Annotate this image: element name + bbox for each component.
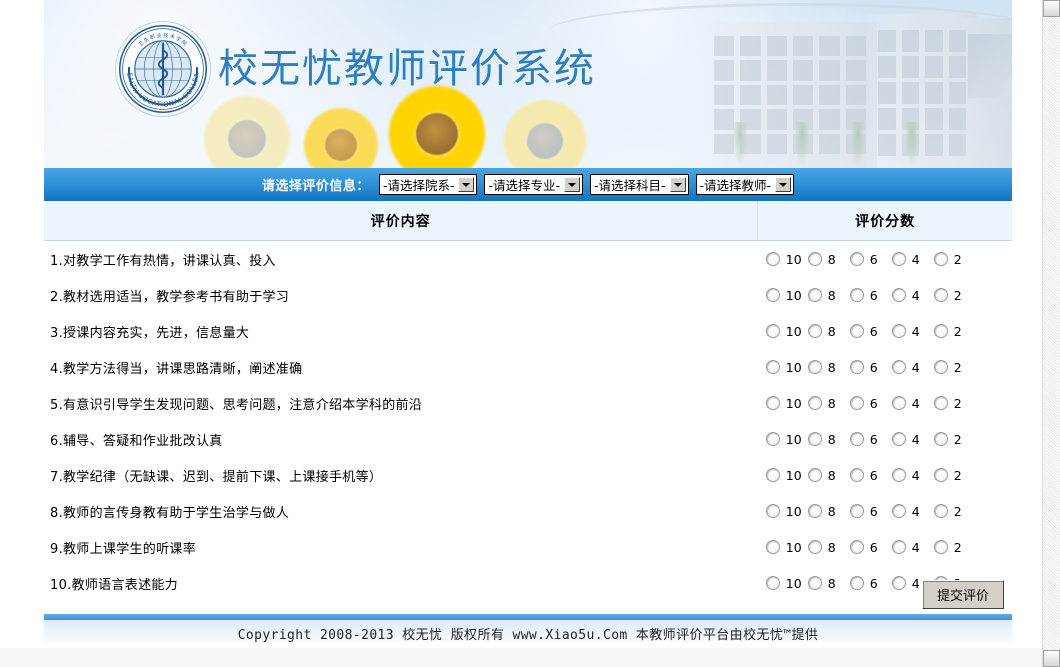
score-label: 4 <box>912 360 920 375</box>
question-score-cell: 108642 <box>758 493 1012 529</box>
radio-button[interactable] <box>850 324 864 338</box>
table-row: 7.教学纪律（无缺课、迟到、提前下课、上课接手机等）108642 <box>44 457 1012 493</box>
radio-button[interactable] <box>850 252 864 266</box>
score-label: 6 <box>870 324 878 339</box>
score-label: 2 <box>954 360 962 375</box>
radio-button[interactable] <box>934 324 948 338</box>
chevron-down-icon[interactable] <box>458 177 474 192</box>
question-score-cell: 108642 <box>758 421 1012 457</box>
score-option-4[interactable]: 4 <box>892 396 934 411</box>
score-label: 8 <box>828 324 836 339</box>
select-teacher-value: -请选择教师- <box>700 175 772 194</box>
radio-button[interactable] <box>766 468 780 482</box>
question-text: 8.教师的言传身教有助于学生治学与做人 <box>44 493 758 529</box>
scroll-down-button[interactable] <box>1043 650 1060 667</box>
evaluation-filter-bar: 请选择评价信息： -请选择院系- -请选择专业- -请选择科目- -请选择教师- <box>44 168 1012 201</box>
radio-button[interactable] <box>934 288 948 302</box>
left-gutter <box>0 0 44 648</box>
radio-button[interactable] <box>808 360 822 374</box>
question-text: 1.对教学工作有热情，讲课认真、投入 <box>44 241 758 278</box>
score-label: 10 <box>786 396 802 411</box>
question-text: 7.教学纪律（无缺课、迟到、提前下课、上课接手机等） <box>44 457 758 493</box>
score-option-8[interactable]: 8 <box>808 468 850 483</box>
page-canvas: HEALTH VOCATIONAL COLLEAG 卫生职业技术学院 校无忧教师… <box>0 0 1042 667</box>
score-option-8[interactable]: 8 <box>808 288 850 303</box>
score-option-6[interactable]: 6 <box>850 396 892 411</box>
header-content: 评价内容 <box>44 202 758 241</box>
score-option-10[interactable]: 10 <box>766 324 808 339</box>
filter-bar-label: 请选择评价信息： <box>262 175 370 194</box>
score-option-10[interactable]: 10 <box>766 468 808 483</box>
score-option-4[interactable]: 4 <box>892 504 934 519</box>
table-row: 4.教学方法得当，讲课思路清晰，阐述准确108642 <box>44 349 1012 385</box>
score-radio-group: 108642 <box>766 540 1011 555</box>
table-row: 5.有意识引导学生发现问题、思考问题，注意介绍本学科的前沿108642 <box>44 385 1012 421</box>
campus-building-photo <box>582 0 1012 168</box>
radio-button[interactable] <box>766 504 780 518</box>
radio-button[interactable] <box>766 324 780 338</box>
vertical-scrollbar[interactable] <box>1042 0 1060 667</box>
radio-button[interactable] <box>808 288 822 302</box>
score-option-8[interactable]: 8 <box>808 540 850 555</box>
score-option-10[interactable]: 10 <box>766 396 808 411</box>
header-score: 评价分数 <box>758 202 1012 241</box>
score-option-2[interactable]: 2 <box>934 288 976 303</box>
evaluation-table-wrapper: 评价内容 评价分数 1.对教学工作有热情，讲课认真、投入1086422.教材选用… <box>44 201 1012 601</box>
score-option-10[interactable]: 10 <box>766 540 808 555</box>
score-label: 2 <box>954 288 962 303</box>
table-row: 6.辅导、答疑和作业批改认真108642 <box>44 421 1012 457</box>
score-label: 6 <box>870 540 878 555</box>
radio-button[interactable] <box>934 432 948 446</box>
score-label: 10 <box>786 468 802 483</box>
score-label: 6 <box>870 252 878 267</box>
table-row: 2.教材选用适当，教学参考书有助于学习108642 <box>44 277 1012 313</box>
score-option-10[interactable]: 10 <box>766 360 808 375</box>
score-label: 2 <box>954 504 962 519</box>
score-radio-group: 108642 <box>766 468 1011 483</box>
radio-button[interactable] <box>808 468 822 482</box>
score-option-2[interactable]: 2 <box>934 540 976 555</box>
score-label: 8 <box>828 360 836 375</box>
question-text: 3.授课内容充实，先进，信息量大 <box>44 313 758 349</box>
score-label: 8 <box>828 468 836 483</box>
submit-evaluation-button[interactable]: 提交评价 <box>922 580 1004 609</box>
score-option-6[interactable]: 6 <box>850 504 892 519</box>
question-score-cell: 108642 <box>758 529 1012 565</box>
radio-button[interactable] <box>892 540 906 554</box>
radio-button[interactable] <box>892 324 906 338</box>
radio-button[interactable] <box>934 396 948 410</box>
score-label: 10 <box>786 540 802 555</box>
question-text: 5.有意识引导学生发现问题、思考问题，注意介绍本学科的前沿 <box>44 385 758 421</box>
score-option-2[interactable]: 2 <box>934 504 976 519</box>
score-option-2[interactable]: 2 <box>934 432 976 447</box>
radio-button[interactable] <box>850 396 864 410</box>
score-label: 4 <box>912 288 920 303</box>
viewport-bottom-fill <box>0 648 1042 667</box>
select-major-value: -请选择专业- <box>488 175 560 194</box>
score-label: 4 <box>912 504 920 519</box>
score-label: 4 <box>912 540 920 555</box>
site-title: 校无忧教师评价系统 <box>218 49 596 89</box>
radio-button[interactable] <box>808 432 822 446</box>
radio-button[interactable] <box>766 252 780 266</box>
score-label: 2 <box>954 468 962 483</box>
radio-button[interactable] <box>808 396 822 410</box>
radio-button[interactable] <box>808 324 822 338</box>
right-gutter <box>1012 0 1042 648</box>
question-text: 4.教学方法得当，讲课思路清晰，阐述准确 <box>44 349 758 385</box>
score-option-10[interactable]: 10 <box>766 504 808 519</box>
radio-button[interactable] <box>808 504 822 518</box>
score-label: 4 <box>912 432 920 447</box>
radio-button[interactable] <box>766 360 780 374</box>
score-option-2[interactable]: 2 <box>934 468 976 483</box>
radio-button[interactable] <box>850 288 864 302</box>
score-radio-group: 108642 <box>766 288 1011 303</box>
submit-row: 提交评价 <box>44 580 1012 609</box>
question-score-cell: 108642 <box>758 241 1012 278</box>
college-emblem-icon: HEALTH VOCATIONAL COLLEAG 卫生职业技术学院 <box>116 22 210 116</box>
score-option-4[interactable]: 4 <box>892 324 934 339</box>
score-radio-group: 108642 <box>766 396 1011 411</box>
score-option-6[interactable]: 6 <box>850 360 892 375</box>
score-label: 8 <box>828 288 836 303</box>
site-banner: HEALTH VOCATIONAL COLLEAG 卫生职业技术学院 校无忧教师… <box>44 0 1012 168</box>
score-option-6[interactable]: 6 <box>850 324 892 339</box>
evaluation-rows: 1.对教学工作有热情，讲课认真、投入1086422.教材选用适当，教学参考书有助… <box>44 241 1012 602</box>
radio-button[interactable] <box>850 468 864 482</box>
score-option-4[interactable]: 4 <box>892 432 934 447</box>
chevron-down-icon[interactable] <box>564 177 580 192</box>
table-header-row: 评价内容 评价分数 <box>44 202 1012 241</box>
score-option-4[interactable]: 4 <box>892 360 934 375</box>
radio-button[interactable] <box>850 432 864 446</box>
scroll-up-button[interactable] <box>1043 0 1060 17</box>
score-option-8[interactable]: 8 <box>808 252 850 267</box>
score-label: 2 <box>954 324 962 339</box>
select-subject-value: -请选择科目- <box>594 175 666 194</box>
score-option-10[interactable]: 10 <box>766 432 808 447</box>
chevron-down-icon[interactable] <box>775 177 791 192</box>
score-option-8[interactable]: 8 <box>808 396 850 411</box>
evaluation-table: 评价内容 评价分数 1.对教学工作有热情，讲课认真、投入1086422.教材选用… <box>44 201 1012 601</box>
question-score-cell: 108642 <box>758 349 1012 385</box>
score-label: 6 <box>870 288 878 303</box>
radio-button[interactable] <box>850 504 864 518</box>
score-option-8[interactable]: 8 <box>808 432 850 447</box>
score-label: 10 <box>786 252 802 267</box>
score-option-8[interactable]: 8 <box>808 504 850 519</box>
radio-button[interactable] <box>934 360 948 374</box>
radio-button[interactable] <box>766 396 780 410</box>
radio-button[interactable] <box>766 432 780 446</box>
page-root: HEALTH VOCATIONAL COLLEAG 卫生职业技术学院 校无忧教师… <box>0 0 1060 667</box>
table-row: 3.授课内容充实，先进，信息量大108642 <box>44 313 1012 349</box>
question-score-cell: 108642 <box>758 457 1012 493</box>
radio-button[interactable] <box>766 540 780 554</box>
select-teacher[interactable]: -请选择教师- <box>696 174 795 195</box>
radio-button[interactable] <box>808 252 822 266</box>
radio-button[interactable] <box>892 252 906 266</box>
score-label: 10 <box>786 504 802 519</box>
score-label: 6 <box>870 504 878 519</box>
score-option-4[interactable]: 4 <box>892 468 934 483</box>
radio-button[interactable] <box>892 288 906 302</box>
score-label: 2 <box>954 396 962 411</box>
radio-button[interactable] <box>892 360 906 374</box>
score-label: 2 <box>954 432 962 447</box>
footer-copyright: Copyright 2008-2013 校无忧 版权所有 www.Xiao5u.… <box>44 624 1012 643</box>
score-option-4[interactable]: 4 <box>892 288 934 303</box>
radio-button[interactable] <box>892 432 906 446</box>
score-label: 4 <box>912 324 920 339</box>
question-text: 9.教师上课学生的听课率 <box>44 529 758 565</box>
score-option-2[interactable]: 2 <box>934 396 976 411</box>
radio-button[interactable] <box>892 468 906 482</box>
score-label: 10 <box>786 324 802 339</box>
score-option-8[interactable]: 8 <box>808 324 850 339</box>
radio-button[interactable] <box>892 396 906 410</box>
score-label: 8 <box>828 432 836 447</box>
score-radio-group: 108642 <box>766 252 1011 267</box>
score-label: 4 <box>912 396 920 411</box>
score-label: 8 <box>828 504 836 519</box>
select-major[interactable]: -请选择专业- <box>484 174 583 195</box>
brand-lockup: HEALTH VOCATIONAL COLLEAG 卫生职业技术学院 校无忧教师… <box>116 22 596 116</box>
score-option-6[interactable]: 6 <box>850 288 892 303</box>
score-option-2[interactable]: 2 <box>934 360 976 375</box>
radio-button[interactable] <box>934 504 948 518</box>
question-score-cell: 108642 <box>758 385 1012 421</box>
radio-button[interactable] <box>850 540 864 554</box>
score-label: 6 <box>870 360 878 375</box>
radio-button[interactable] <box>766 288 780 302</box>
chevron-down-icon[interactable] <box>670 177 686 192</box>
score-option-2[interactable]: 2 <box>934 252 976 267</box>
score-radio-group: 108642 <box>766 360 1011 375</box>
radio-button[interactable] <box>934 540 948 554</box>
question-text: 2.教材选用适当，教学参考书有助于学习 <box>44 277 758 313</box>
score-label: 6 <box>870 432 878 447</box>
table-row: 8.教师的言传身教有助于学生治学与做人108642 <box>44 493 1012 529</box>
score-label: 8 <box>828 540 836 555</box>
score-label: 6 <box>870 396 878 411</box>
radio-button[interactable] <box>892 504 906 518</box>
score-option-6[interactable]: 6 <box>850 468 892 483</box>
score-label: 2 <box>954 540 962 555</box>
score-option-4[interactable]: 4 <box>892 540 934 555</box>
radio-button[interactable] <box>808 540 822 554</box>
score-radio-group: 108642 <box>766 504 1011 519</box>
score-label: 10 <box>786 288 802 303</box>
radio-button[interactable] <box>934 252 948 266</box>
score-label: 10 <box>786 360 802 375</box>
question-score-cell: 108642 <box>758 277 1012 313</box>
select-department-value: -请选择院系- <box>383 175 455 194</box>
score-option-10[interactable]: 10 <box>766 252 808 267</box>
radio-button[interactable] <box>934 468 948 482</box>
table-row: 1.对教学工作有热情，讲课认真、投入108642 <box>44 241 1012 278</box>
score-label: 8 <box>828 252 836 267</box>
score-label: 4 <box>912 252 920 267</box>
score-option-8[interactable]: 8 <box>808 360 850 375</box>
score-label: 10 <box>786 432 802 447</box>
score-option-10[interactable]: 10 <box>766 288 808 303</box>
score-option-6[interactable]: 6 <box>850 252 892 267</box>
table-row: 9.教师上课学生的听课率108642 <box>44 529 1012 565</box>
score-label: 4 <box>912 468 920 483</box>
question-text: 6.辅导、答疑和作业批改认真 <box>44 421 758 457</box>
score-radio-group: 108642 <box>766 432 1011 447</box>
select-subject[interactable]: -请选择科目- <box>590 174 689 195</box>
score-option-4[interactable]: 4 <box>892 252 934 267</box>
select-department[interactable]: -请选择院系- <box>379 174 478 195</box>
score-label: 6 <box>870 468 878 483</box>
score-option-2[interactable]: 2 <box>934 324 976 339</box>
radio-button[interactable] <box>850 360 864 374</box>
score-option-6[interactable]: 6 <box>850 432 892 447</box>
score-radio-group: 108642 <box>766 324 1011 339</box>
score-label: 8 <box>828 396 836 411</box>
score-option-6[interactable]: 6 <box>850 540 892 555</box>
score-label: 2 <box>954 252 962 267</box>
question-score-cell: 108642 <box>758 313 1012 349</box>
